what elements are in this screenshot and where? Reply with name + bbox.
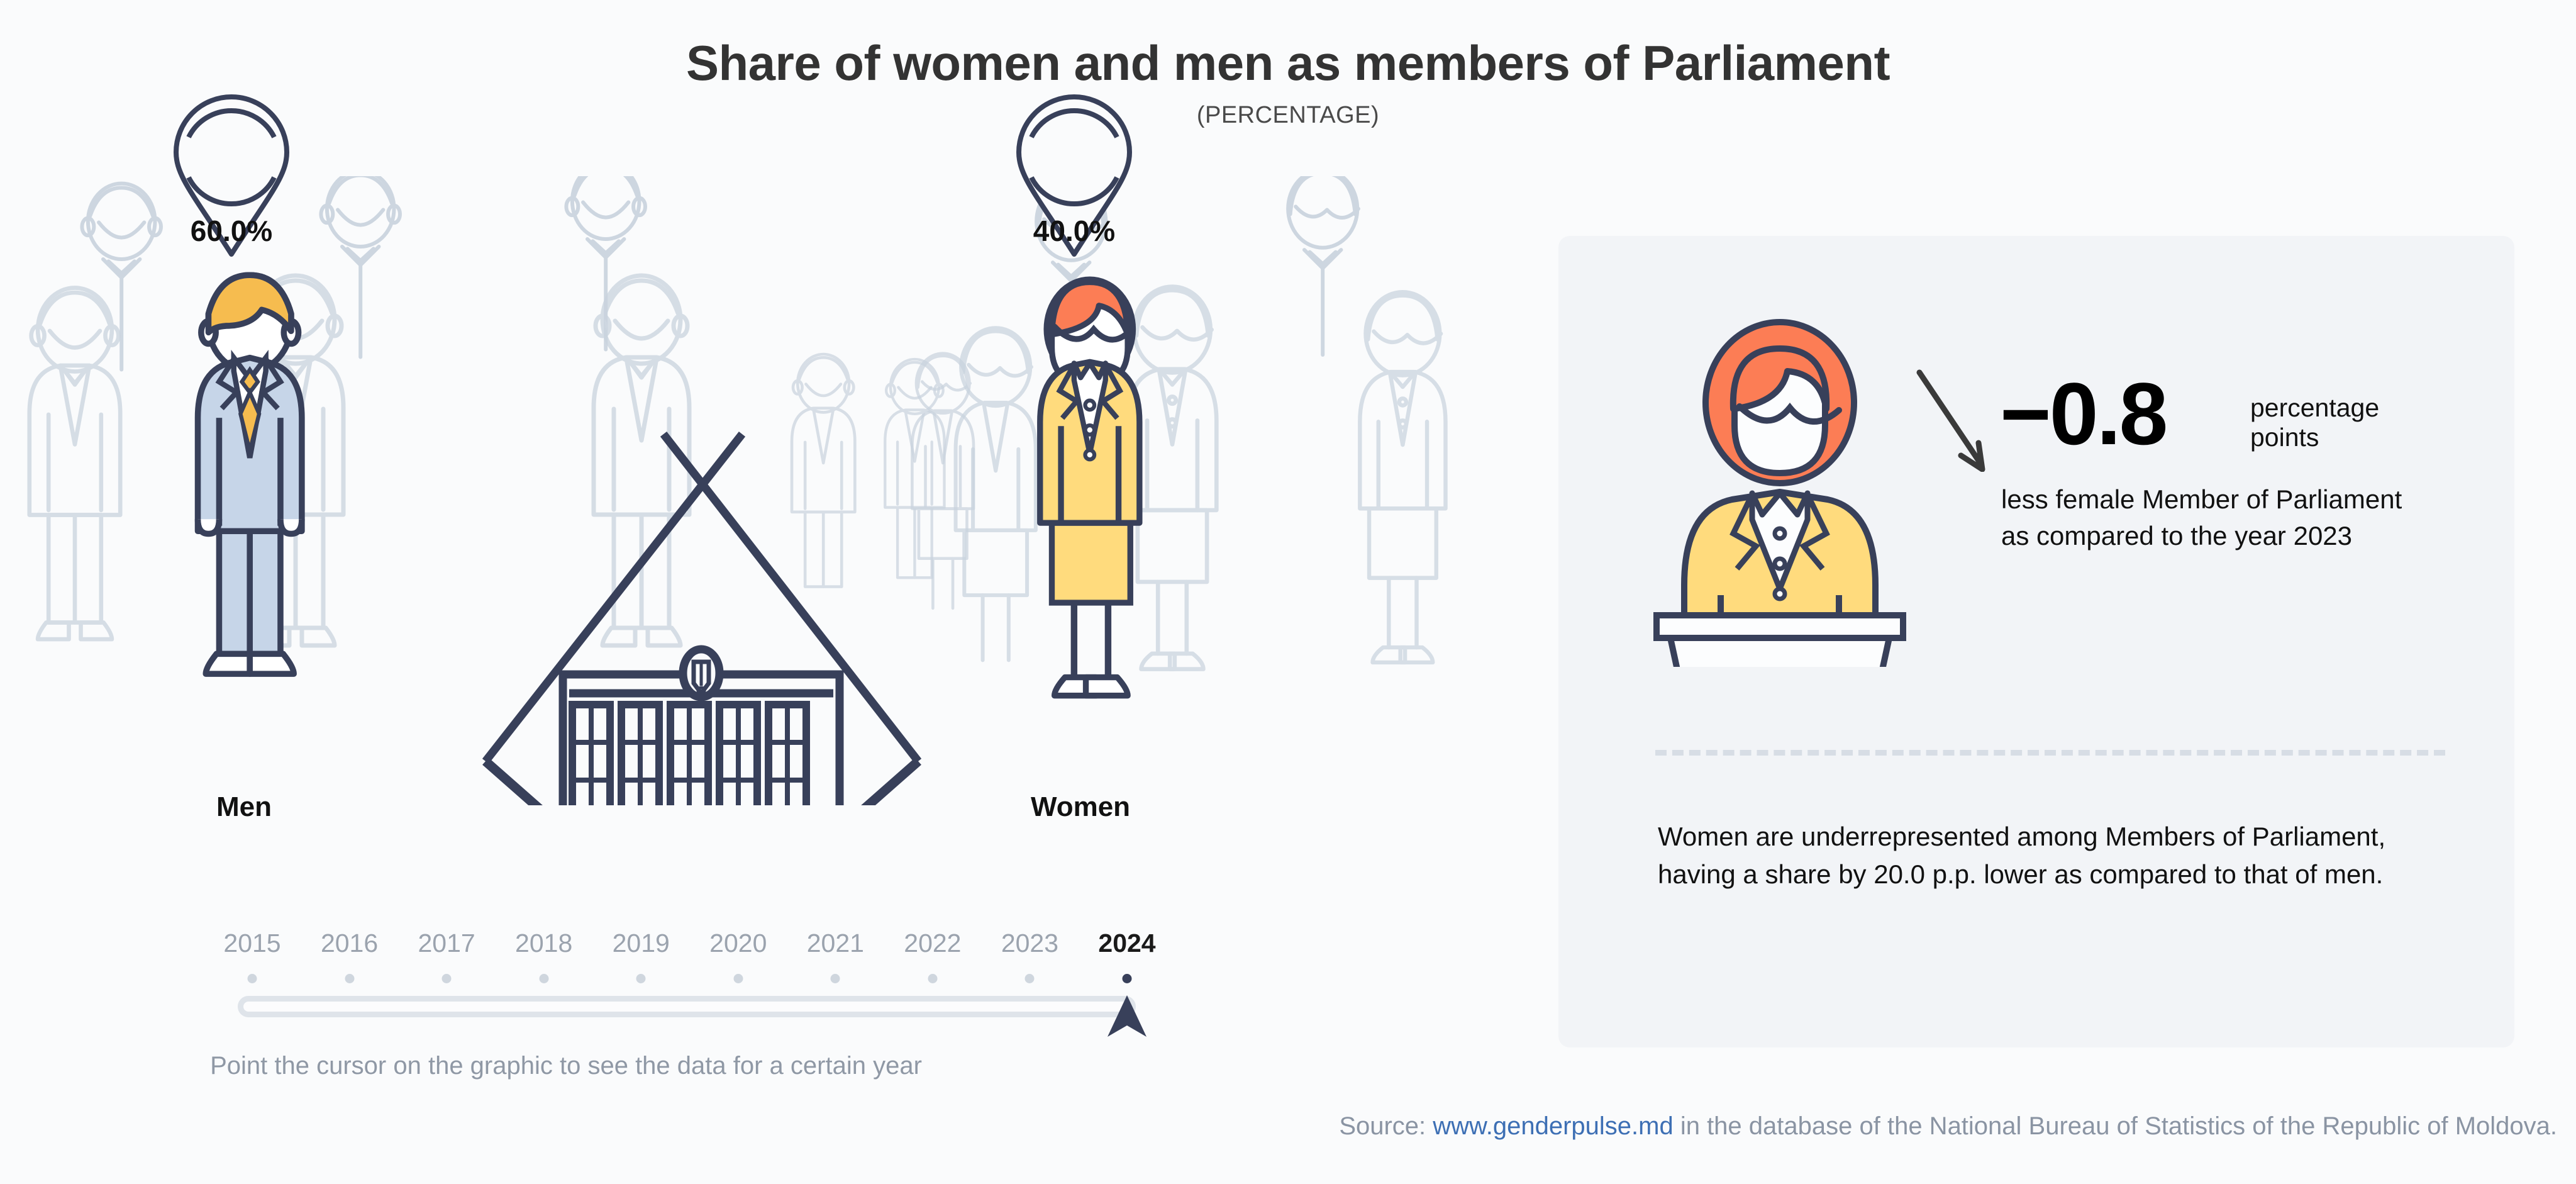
year-tick-2019[interactable]	[636, 974, 646, 983]
woman-at-podium-icon	[1648, 315, 1912, 667]
year-label-2017[interactable]: 2017	[418, 929, 475, 958]
year-tick-2018[interactable]	[539, 974, 548, 983]
delta-unit: percentage points	[2250, 393, 2502, 452]
ghost-men-crowd	[30, 176, 945, 645]
year-tick-2022[interactable]	[928, 974, 937, 983]
page-title: Share of women and men as members of Par…	[0, 35, 2576, 92]
ghost-woman	[1360, 292, 1445, 662]
panel-note: Women are underrepresented among Members…	[1658, 818, 2444, 893]
delta-unit-line-1: percentage	[2250, 393, 2502, 423]
year-tick-2015[interactable]	[248, 974, 257, 983]
source-prefix: Source:	[1339, 1112, 1433, 1140]
year-label-2016[interactable]: 2016	[321, 929, 378, 958]
panel-divider	[1655, 750, 2445, 756]
source-link[interactable]: www.genderpulse.md	[1433, 1112, 1673, 1140]
ghost-man	[30, 288, 120, 640]
year-label-2015[interactable]: 2015	[223, 929, 280, 958]
gender-illustration	[0, 176, 1509, 805]
source-line: Source: www.genderpulse.md in the databa…	[1339, 1112, 2557, 1141]
parliament-building-icon	[486, 434, 918, 805]
women-group-label: Women	[1011, 791, 1150, 823]
ghost-man	[885, 359, 944, 578]
source-suffix: in the database of the National Bureau o…	[1674, 1112, 2557, 1140]
infographic-root: Share of women and men as members of Par…	[0, 0, 2576, 1184]
year-tick-2016[interactable]	[345, 974, 354, 983]
year-tick-2023[interactable]	[1025, 974, 1035, 983]
year-label-2020[interactable]: 2020	[709, 929, 767, 958]
ghost-man	[594, 276, 689, 645]
year-label-2024[interactable]: 2024	[1098, 929, 1155, 958]
year-tick-2024[interactable]	[1123, 974, 1132, 983]
women-value-label: 40.0%	[1011, 214, 1137, 248]
men-value-label: 60.0%	[169, 214, 294, 248]
slider-hint: Point the cursor on the graphic to see t…	[0, 1052, 1132, 1080]
year-label-2021[interactable]: 2021	[807, 929, 864, 958]
ghost-women-crowd	[912, 176, 1445, 669]
highlighted-woman-figure	[1040, 279, 1140, 695]
men-group-label: Men	[181, 791, 307, 823]
year-tick-2017[interactable]	[442, 974, 452, 983]
ghost-man	[792, 354, 855, 587]
ghost-man	[566, 176, 645, 349]
year-tick-2021[interactable]	[831, 974, 840, 983]
delta-unit-line-2: points	[2250, 423, 2502, 452]
slider-track-fill	[243, 1002, 1130, 1012]
slider-track[interactable]	[238, 996, 1136, 1017]
delta-description: less female Member of Parliament as comp…	[2001, 481, 2416, 554]
year-label-2023[interactable]: 2023	[1001, 929, 1058, 958]
delta-value: −0.8	[2000, 370, 2166, 458]
ghost-man	[82, 184, 161, 370]
year-tick-2020[interactable]	[733, 974, 743, 983]
page-subtitle: (PERCENTAGE)	[0, 102, 2576, 129]
year-label-2022[interactable]: 2022	[904, 929, 961, 958]
year-label-2018[interactable]: 2018	[515, 929, 572, 958]
highlighted-man-figure	[198, 275, 302, 674]
ghost-woman	[1288, 176, 1358, 355]
slider-handle[interactable]	[1106, 993, 1148, 1042]
year-label-2019[interactable]: 2019	[613, 929, 670, 958]
